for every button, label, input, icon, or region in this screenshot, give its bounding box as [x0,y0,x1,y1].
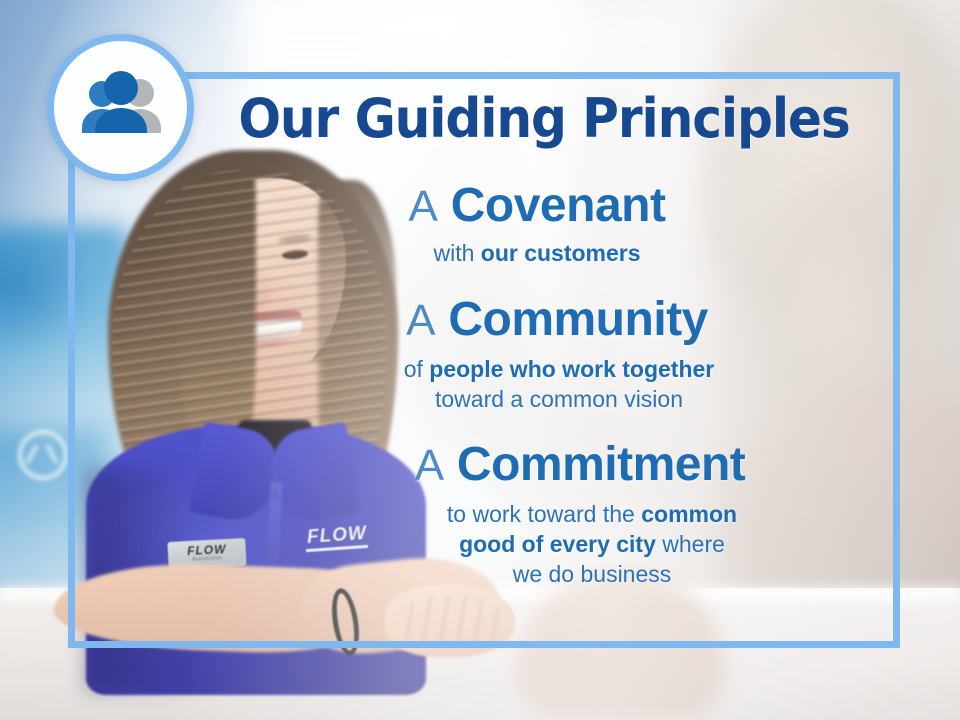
guiding-principles-poster: FLOW Automotive FLOW [0,0,960,720]
people-icon-badge [47,34,194,181]
principle-subtext-covenant: with our customers [200,238,874,268]
principle-heading-covenant: A Covenant [200,180,874,232]
employee-fingers [398,596,503,648]
page-title: Our Guiding Principles [237,92,851,146]
plain-text: of [404,356,430,382]
principle-heading-community: A Community [200,294,874,346]
car-emblem-icon [18,430,68,480]
emphasis-text: people who work together [429,356,714,382]
principle-community: A Communityof people who work togetherto… [200,294,874,415]
principle-subtext-line: we do business [310,559,874,589]
principle-subtext-commitment: to work toward the commongood of every c… [200,499,874,590]
plain-text: we do business [513,561,672,587]
principles-list: A Covenantwith our customersA Communityo… [200,180,874,594]
principle-article: A [406,296,435,345]
principle-subtext-line: to work toward the common [310,499,874,529]
emphasis-text: good of every city [459,531,656,557]
principle-subtext-line: of people who work together [244,354,874,384]
plain-text: toward a common vision [435,386,683,412]
plain-text: to work toward the [447,501,641,527]
plain-text: where [656,531,725,557]
emphasis-text: common [641,501,737,527]
principle-subtext-line: with our customers [200,238,874,268]
principle-word-commitment: Commitment [444,438,745,491]
principle-commitment: A Commitmentto work toward the commongoo… [200,439,874,590]
principle-subtext-line: good of every city where [310,529,874,559]
principle-subtext-community: of people who work togethertoward a comm… [200,354,874,415]
principle-word-covenant: Covenant [438,179,666,232]
plain-text: with [433,240,480,266]
principle-article: A [415,441,444,490]
emphasis-text: our customers [481,240,641,266]
principle-word-community: Community [436,293,708,346]
principle-subtext-line: toward a common vision [244,384,874,414]
people-group-icon [73,71,169,145]
principle-heading-commitment: A Commitment [200,439,874,491]
principle-covenant: A Covenantwith our customers [200,180,874,268]
principle-article: A [409,182,438,231]
